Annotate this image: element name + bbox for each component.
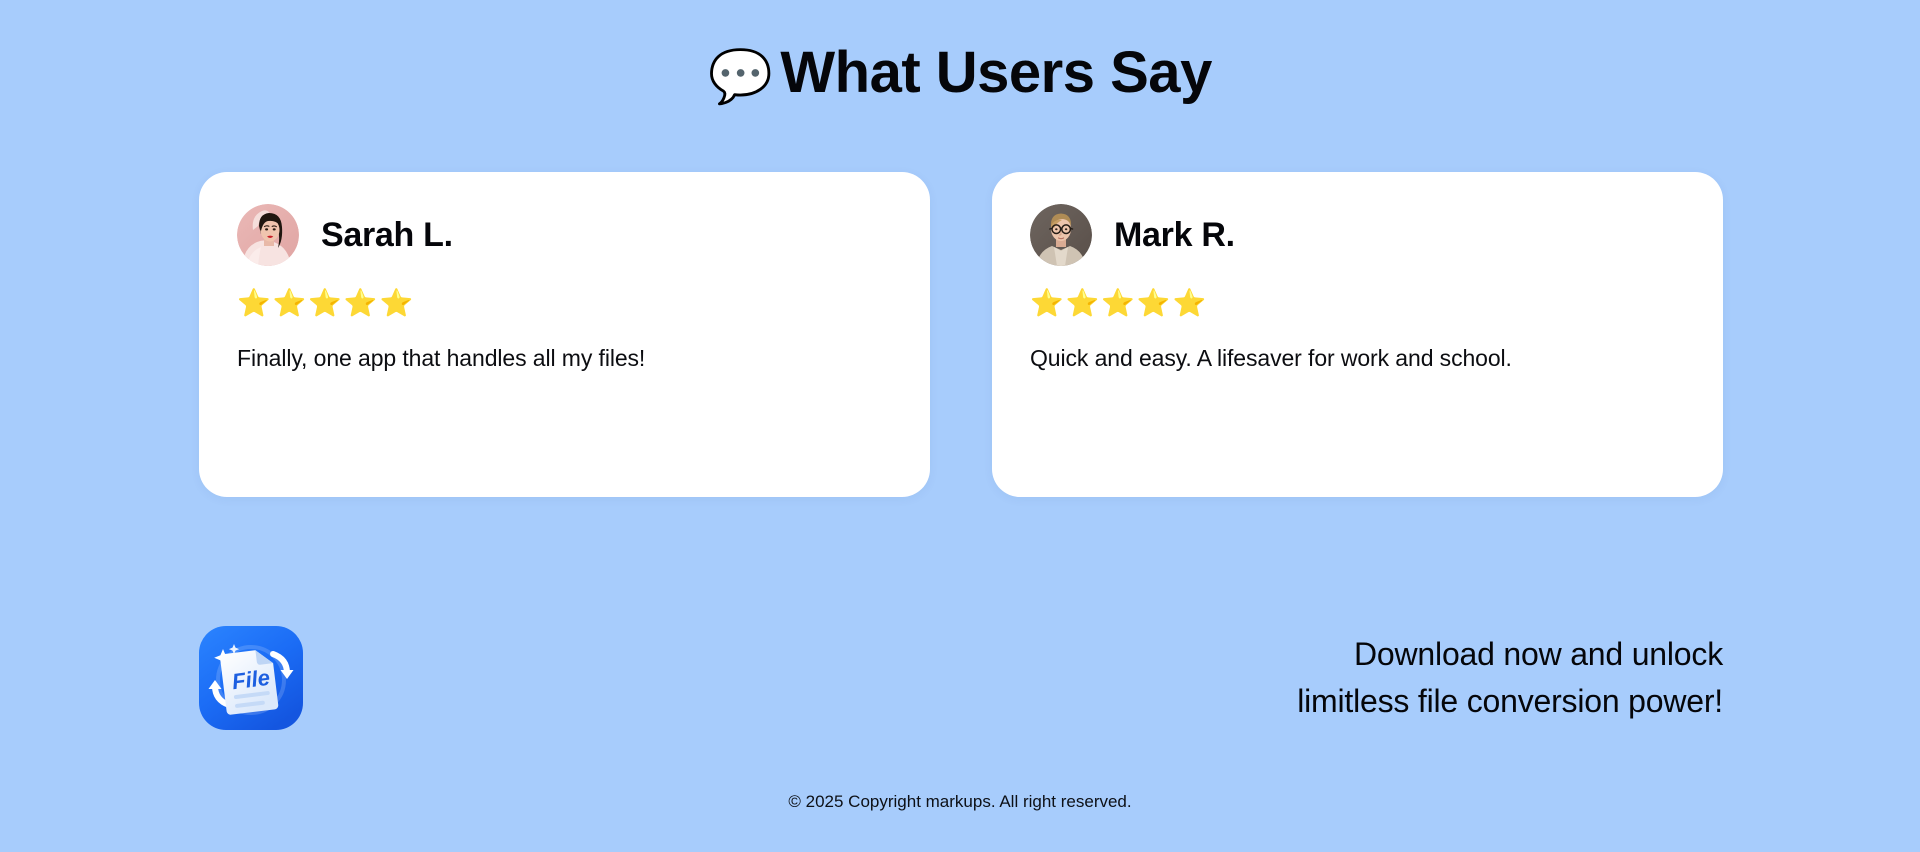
review-text: Finally, one app that handles all my fil…: [237, 343, 892, 374]
review-text: Quick and easy. A lifesaver for work and…: [1030, 343, 1685, 374]
avatar-sarah: [237, 204, 299, 266]
page-title-text: What Users Say: [780, 40, 1211, 105]
reviewer-name: Sarah L.: [321, 218, 453, 252]
rating-stars: ⭐⭐⭐⭐⭐: [237, 290, 892, 317]
cta-row: File Download now and unlock limitless f…: [199, 608, 1723, 748]
cta-line-1: Download now and unlock: [1297, 631, 1723, 678]
card-header: Mark R.: [1030, 202, 1685, 268]
speech-balloon-icon: 💬: [708, 48, 772, 106]
app-file-converter-icon[interactable]: File: [199, 626, 303, 730]
testimonials-list: Sarah L. ⭐⭐⭐⭐⭐ Finally, one app that han…: [199, 172, 1723, 497]
reviewer-name: Mark R.: [1114, 218, 1235, 252]
avatar-mark: [1030, 204, 1092, 266]
page-title: 💬What Users Say: [0, 40, 1920, 108]
rating-stars: ⭐⭐⭐⭐⭐: [1030, 290, 1685, 317]
testimonial-card[interactable]: Mark R. ⭐⭐⭐⭐⭐ Quick and easy. A lifesave…: [992, 172, 1723, 497]
copyright-text: © 2025 Copyright markups. All right rese…: [0, 792, 1920, 812]
testimonials-page: 💬What Users Say: [0, 0, 1920, 852]
svg-text:File: File: [231, 665, 272, 694]
cta-text: Download now and unlock limitless file c…: [1297, 631, 1723, 726]
cta-line-2: limitless file conversion power!: [1297, 678, 1723, 725]
card-header: Sarah L.: [237, 202, 892, 268]
testimonial-card[interactable]: Sarah L. ⭐⭐⭐⭐⭐ Finally, one app that han…: [199, 172, 930, 497]
